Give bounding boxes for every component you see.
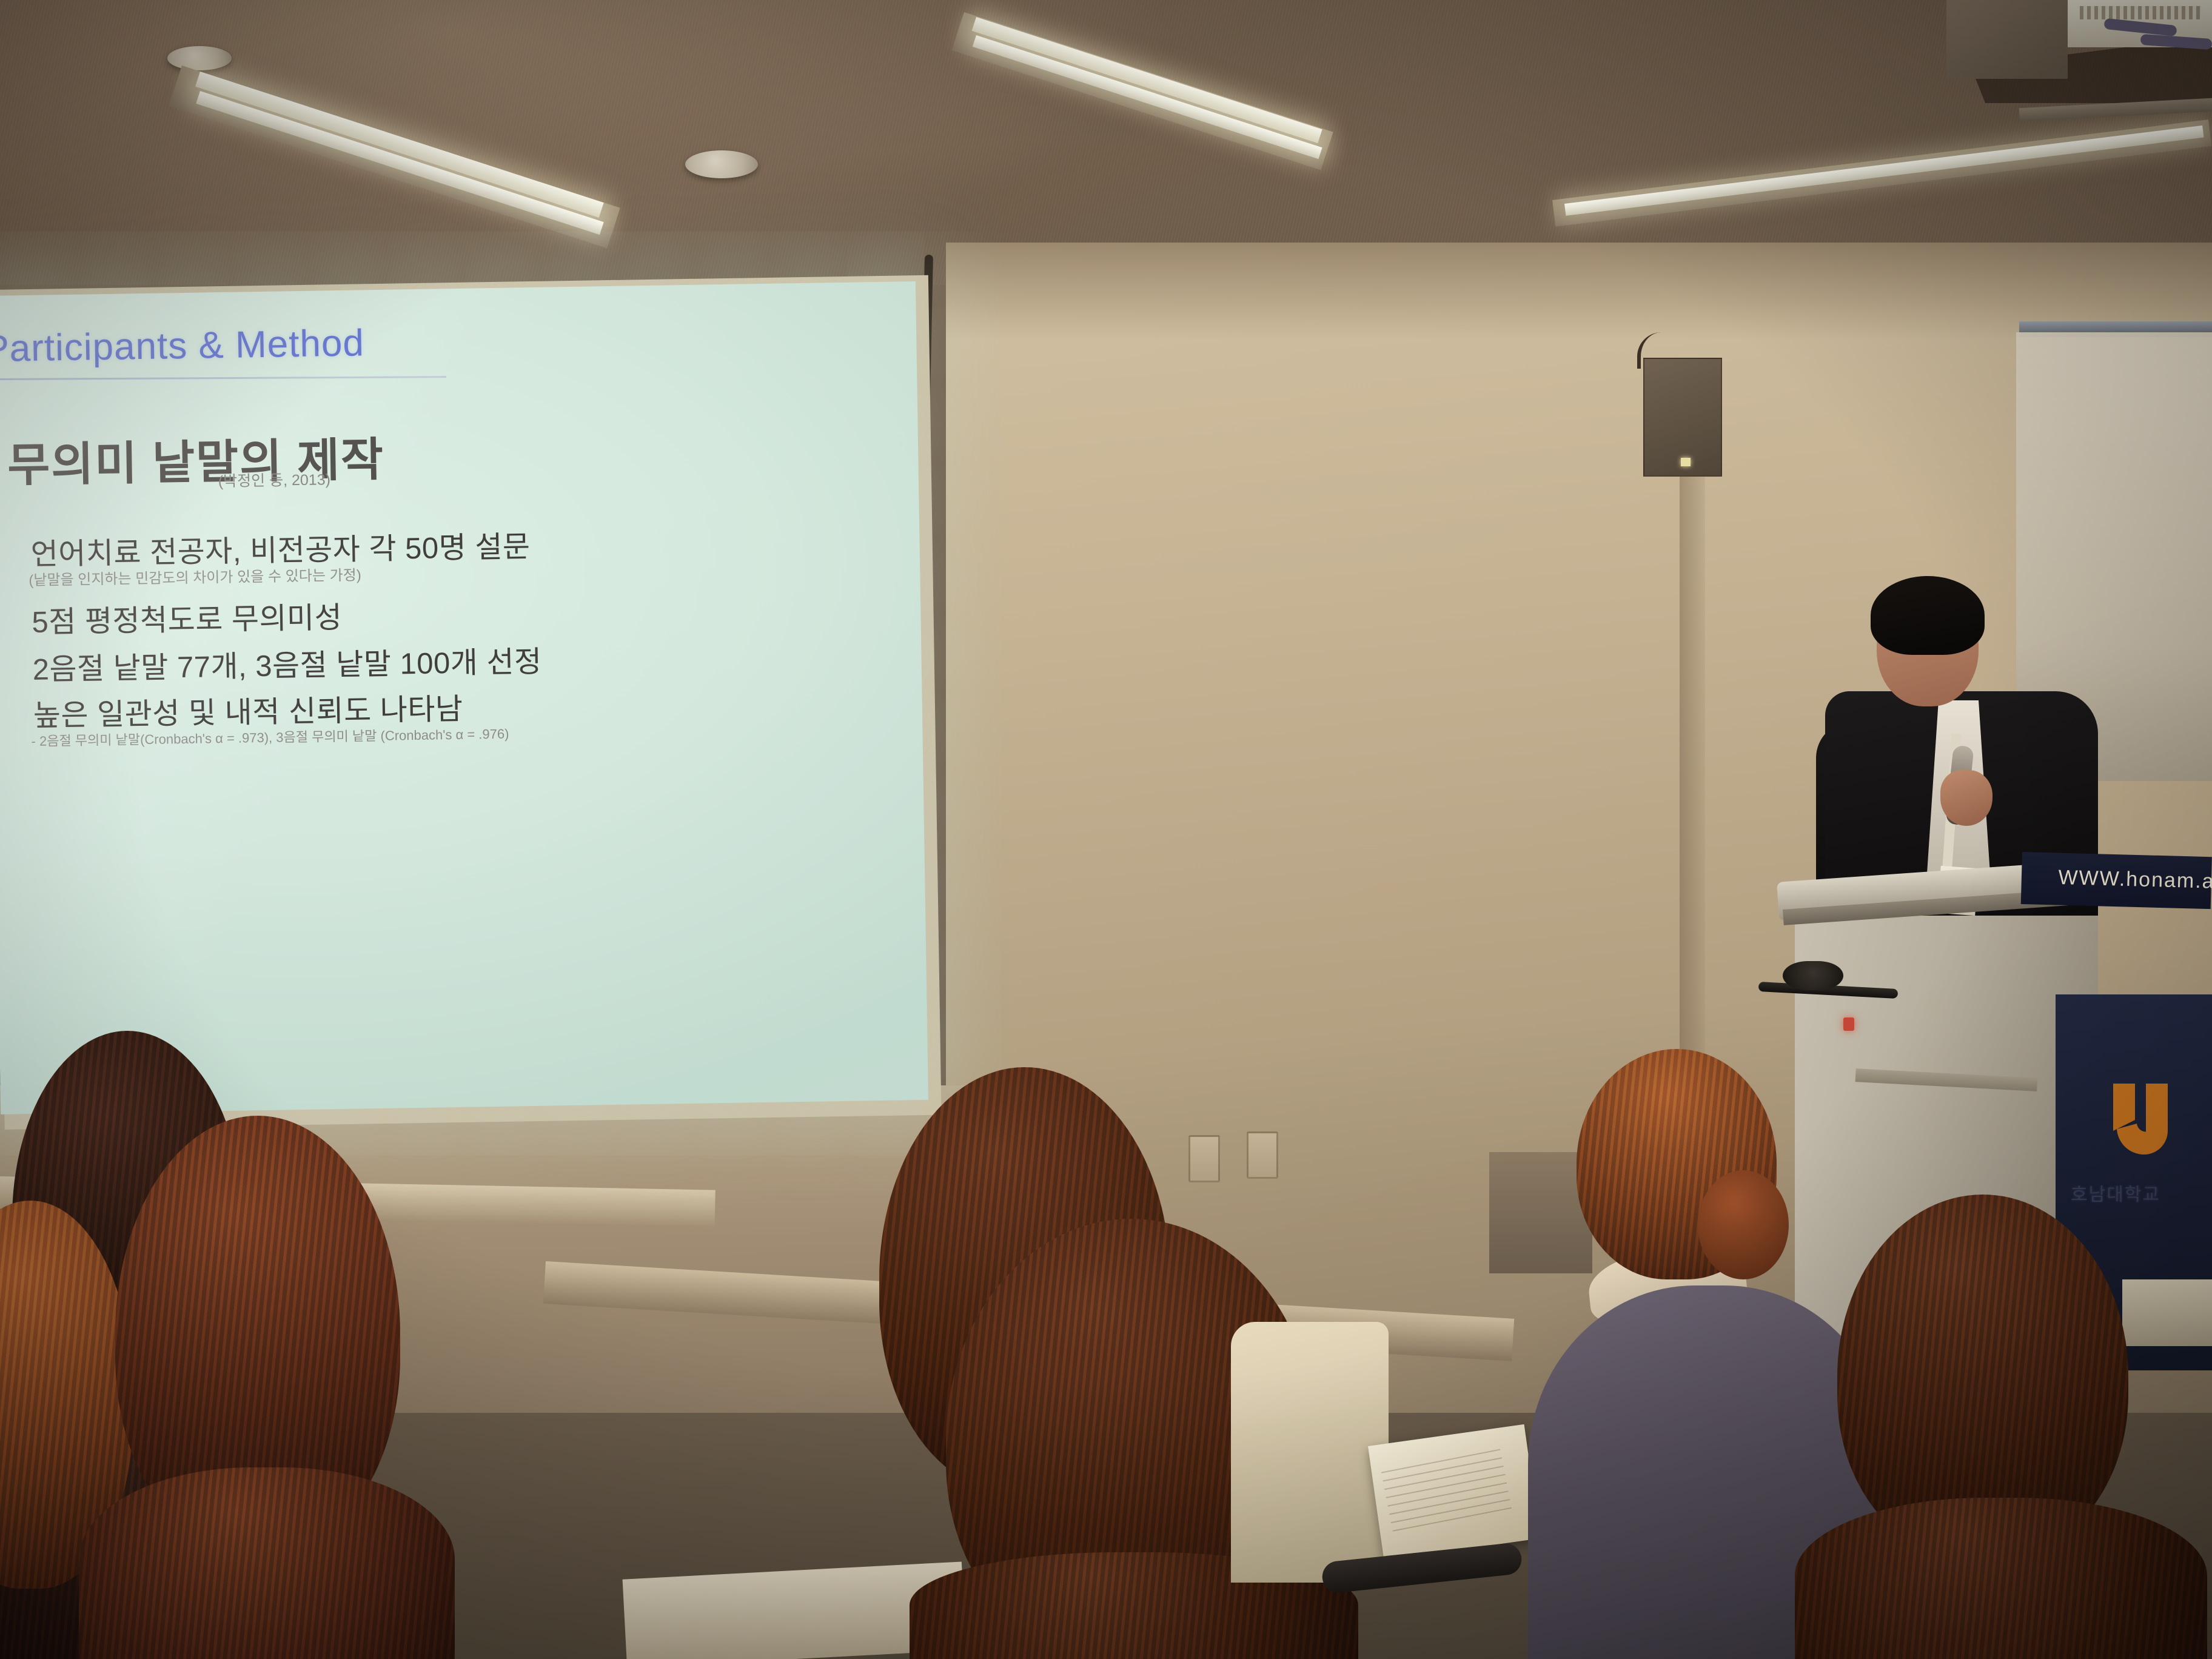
wall-plate[interactable] — [1247, 1131, 1278, 1179]
av-vent-grille — [2080, 6, 2201, 19]
slide-title-citation: (박정인 등, 2013) — [218, 468, 331, 491]
presenter-hand — [1940, 770, 1992, 826]
slide-header-divider — [0, 376, 446, 380]
slide-section-header: Participants & Method — [0, 321, 409, 370]
lectern-led-icon — [1843, 1017, 1854, 1031]
recessed-speaker — [685, 150, 758, 178]
hair-texture — [79, 1467, 455, 1659]
audience-jacket — [1231, 1322, 1389, 1583]
presenter-hair — [1871, 576, 1985, 655]
slide-bullet: 5점 평정척도로 무의미성 — [32, 594, 343, 642]
slide-bullet: 2음절 낱말 77개, 3음절 낱말 100개 선정 — [32, 638, 542, 689]
slide-bullet-note: (낱말을 인지하는 민감도의 차이가 있을 수 있다는 가정) — [28, 563, 361, 589]
venue-banner-name: 호남대학교 — [2071, 1179, 2212, 1206]
wall-plate[interactable] — [1188, 1135, 1220, 1182]
podium-url-text: WWW.honam.a — [2058, 866, 2212, 894]
projection-screen: Participants & Method 무의미 낱말의 제작 (박정인 등,… — [0, 281, 928, 1114]
hair-texture — [1795, 1498, 2207, 1659]
audience-ponytail — [1698, 1170, 1789, 1279]
audience-shoulders — [1795, 1498, 2207, 1659]
audience-shoulders — [79, 1467, 455, 1659]
speaker-led-icon — [1681, 458, 1691, 466]
booklet-text-lines — [1381, 1449, 1512, 1532]
university-logo-icon — [2095, 1067, 2186, 1158]
open-booklet — [1368, 1424, 1540, 1560]
side-table — [2122, 1279, 2212, 1346]
recessed-speaker — [167, 46, 232, 70]
presentation-photo: Participants & Method 무의미 낱말의 제작 (박정인 등,… — [0, 0, 2212, 1659]
microphone-base — [1783, 961, 1843, 990]
slide: Participants & Method 무의미 낱말의 제작 (박정인 등,… — [0, 281, 928, 1114]
ceiling-av-unit — [1946, 0, 2068, 79]
